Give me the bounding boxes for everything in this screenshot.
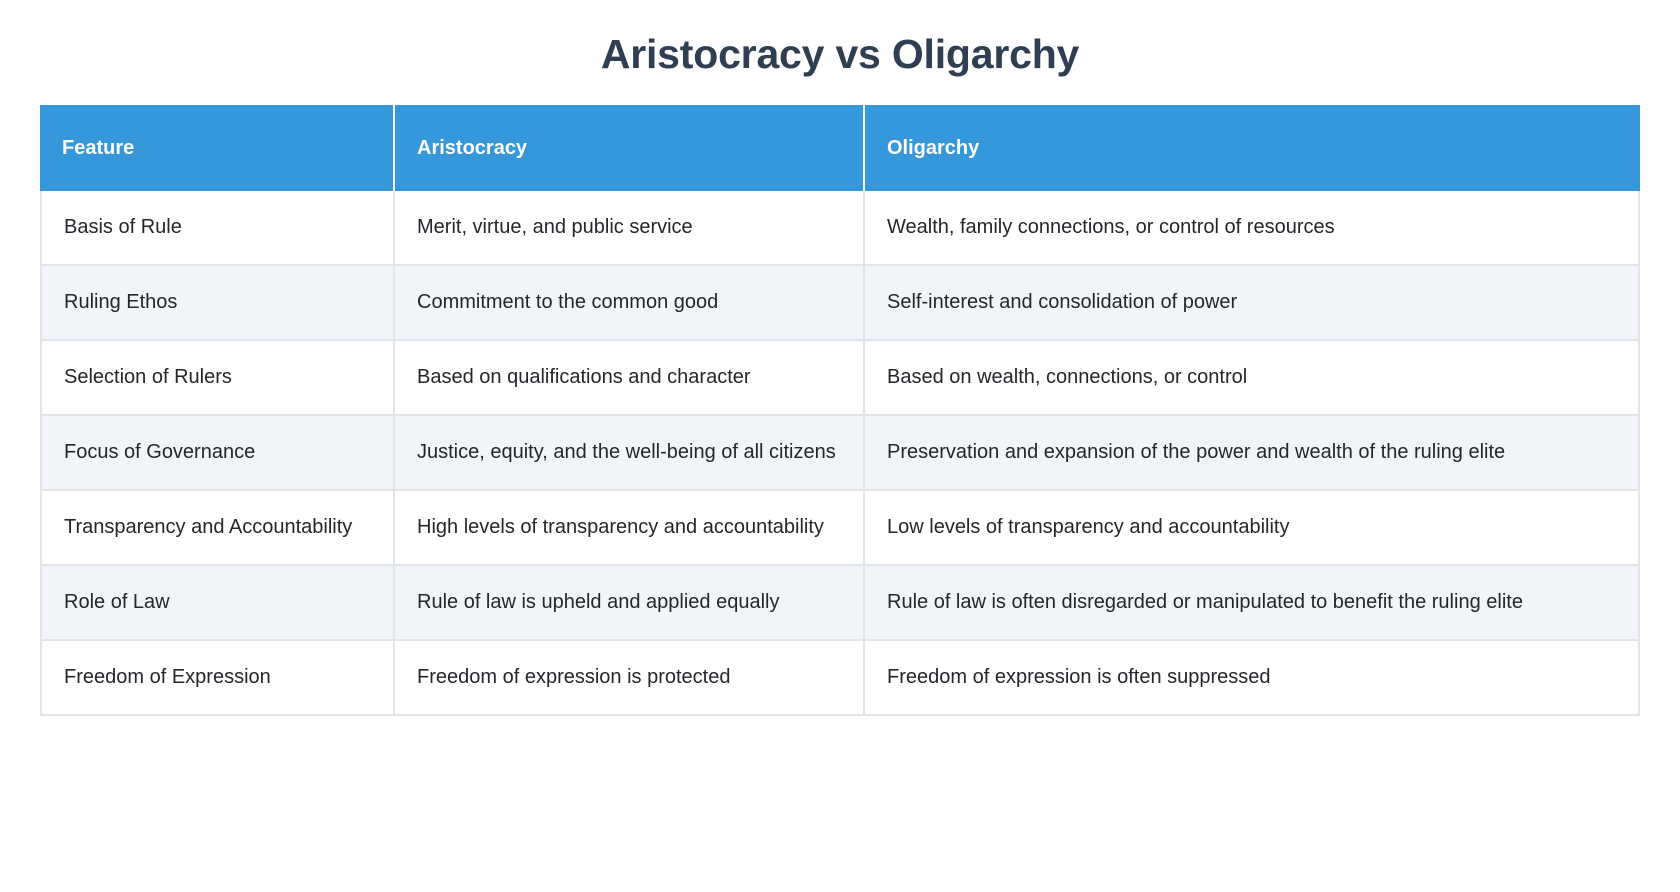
cell-oligarchy: Low levels of transparency and accountab… bbox=[865, 491, 1640, 566]
comparison-table-container: Feature Aristocracy Oligarchy Basis of R… bbox=[40, 105, 1640, 716]
cell-feature: Ruling Ethos bbox=[40, 266, 395, 341]
cell-oligarchy: Preservation and expansion of the power … bbox=[865, 416, 1640, 491]
table-row: Basis of Rule Merit, virtue, and public … bbox=[40, 191, 1640, 266]
table-row: Role of Law Rule of law is upheld and ap… bbox=[40, 566, 1640, 641]
cell-feature: Transparency and Accountability bbox=[40, 491, 395, 566]
cell-feature: Role of Law bbox=[40, 566, 395, 641]
table-header: Feature Aristocracy Oligarchy bbox=[40, 105, 1640, 191]
cell-aristocracy: High levels of transparency and accounta… bbox=[395, 491, 865, 566]
cell-aristocracy: Justice, equity, and the well-being of a… bbox=[395, 416, 865, 491]
cell-feature: Freedom of Expression bbox=[40, 641, 395, 716]
table-row: Ruling Ethos Commitment to the common go… bbox=[40, 266, 1640, 341]
table-body: Basis of Rule Merit, virtue, and public … bbox=[40, 191, 1640, 716]
column-header-oligarchy: Oligarchy bbox=[865, 105, 1640, 191]
cell-oligarchy: Wealth, family connections, or control o… bbox=[865, 191, 1640, 266]
comparison-table: Feature Aristocracy Oligarchy Basis of R… bbox=[40, 105, 1640, 716]
cell-aristocracy: Based on qualifications and character bbox=[395, 341, 865, 416]
cell-oligarchy: Freedom of expression is often suppresse… bbox=[865, 641, 1640, 716]
column-header-feature: Feature bbox=[40, 105, 395, 191]
table-row: Focus of Governance Justice, equity, and… bbox=[40, 416, 1640, 491]
cell-oligarchy: Based on wealth, connections, or control bbox=[865, 341, 1640, 416]
cell-feature: Basis of Rule bbox=[40, 191, 395, 266]
cell-aristocracy: Rule of law is upheld and applied equall… bbox=[395, 566, 865, 641]
cell-oligarchy: Rule of law is often disregarded or mani… bbox=[865, 566, 1640, 641]
cell-aristocracy: Freedom of expression is protected bbox=[395, 641, 865, 716]
table-row: Selection of Rulers Based on qualificati… bbox=[40, 341, 1640, 416]
cell-feature: Focus of Governance bbox=[40, 416, 395, 491]
table-header-row: Feature Aristocracy Oligarchy bbox=[40, 105, 1640, 191]
cell-feature: Selection of Rulers bbox=[40, 341, 395, 416]
comparison-page: Aristocracy vs Oligarchy Feature Aristoc… bbox=[0, 0, 1680, 892]
page-title: Aristocracy vs Oligarchy bbox=[40, 0, 1640, 81]
cell-oligarchy: Self-interest and consolidation of power bbox=[865, 266, 1640, 341]
table-row: Transparency and Accountability High lev… bbox=[40, 491, 1640, 566]
cell-aristocracy: Merit, virtue, and public service bbox=[395, 191, 865, 266]
table-row: Freedom of Expression Freedom of express… bbox=[40, 641, 1640, 716]
cell-aristocracy: Commitment to the common good bbox=[395, 266, 865, 341]
column-header-aristocracy: Aristocracy bbox=[395, 105, 865, 191]
